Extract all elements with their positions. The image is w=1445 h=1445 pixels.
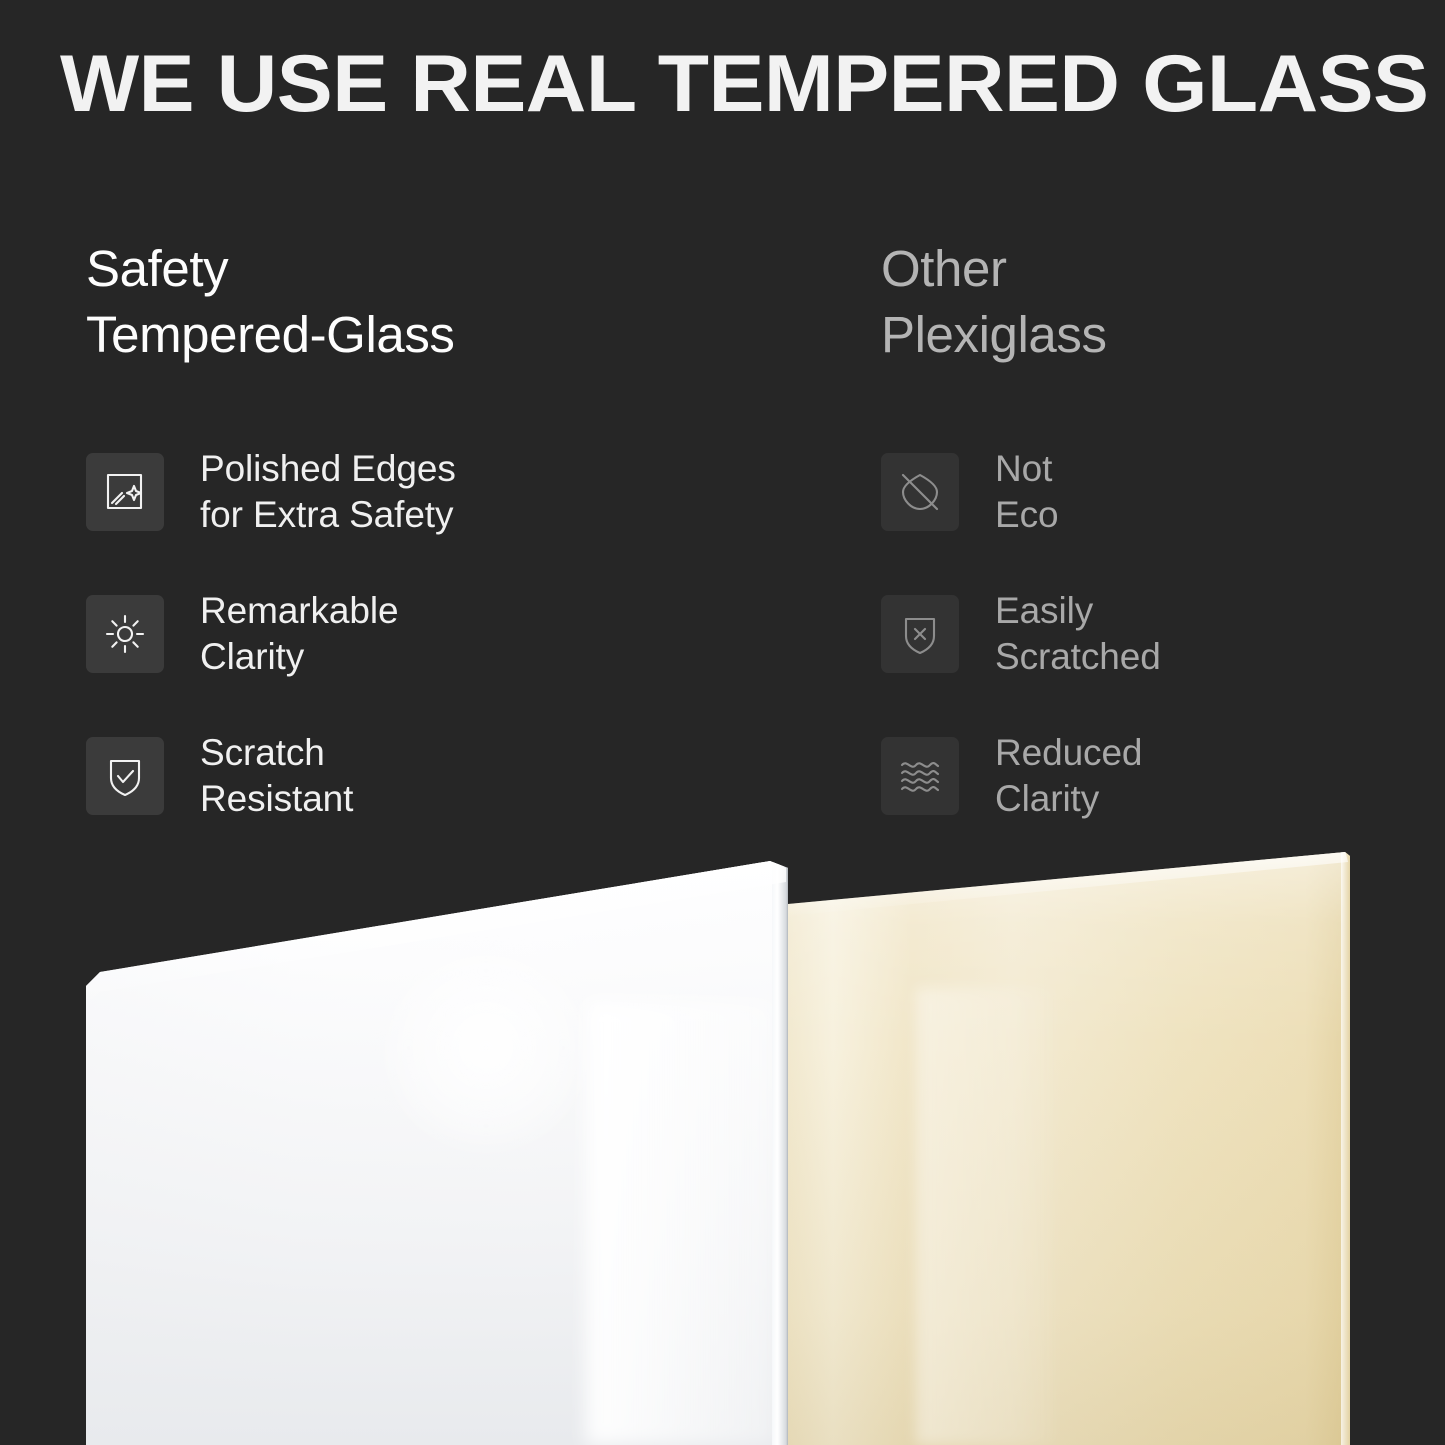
polished-glass-panel-icon (86, 453, 164, 531)
glass-highlight (386, 948, 586, 1148)
list-item: Reduced Clarity (881, 728, 1401, 823)
column-right-heading-line1: Other (881, 236, 1401, 302)
plexiglass-top-edge (788, 838, 1350, 918)
list-item-label: Remarkable Clarity (200, 588, 398, 680)
list-item: Scratch Resistant (86, 728, 806, 823)
plexiglass-sheen (916, 988, 1054, 1445)
comparison-infographic: WE USE REAL TEMPERED GLASS Safety Temper… (0, 0, 1445, 1445)
list-item: Easily Scratched (881, 586, 1401, 681)
tempered-glass-panel (86, 838, 788, 1445)
column-plexiglass: Other Plexiglass Not Eco (881, 236, 1401, 368)
list-item: Not Eco (881, 444, 1401, 539)
page-title: WE USE REAL TEMPERED GLASS (60, 41, 1445, 127)
sun-clarity-icon (86, 595, 164, 673)
plexiglass-right-edge (1341, 838, 1350, 1445)
right-feature-list: Not Eco Easily Scratched (881, 444, 1401, 870)
shield-check-icon (86, 737, 164, 815)
column-tempered-glass: Safety Tempered-Glass Polished Edges for… (86, 236, 806, 368)
column-right-heading-line2: Plexiglass (881, 302, 1401, 368)
list-item-label: Not Eco (995, 446, 1058, 538)
leaf-slashed-icon (881, 453, 959, 531)
plexiglass-panel (788, 838, 1350, 1445)
column-left-heading-line1: Safety (86, 236, 806, 302)
list-item-label: Easily Scratched (995, 588, 1161, 680)
wavy-lines-icon (881, 737, 959, 815)
list-item: Polished Edges for Extra Safety (86, 444, 806, 539)
shield-x-icon (881, 595, 959, 673)
list-item-label: Polished Edges for Extra Safety (200, 446, 456, 538)
list-item-label: Reduced Clarity (995, 730, 1142, 822)
glass-reflection (586, 1000, 776, 1445)
glass-right-edge (772, 862, 788, 1445)
product-comparison-photo (0, 838, 1445, 1445)
list-item-label: Scratch Resistant (200, 730, 353, 822)
column-left-heading-line2: Tempered-Glass (86, 302, 806, 368)
left-feature-list: Polished Edges for Extra Safety (86, 444, 806, 870)
list-item: Remarkable Clarity (86, 586, 806, 681)
